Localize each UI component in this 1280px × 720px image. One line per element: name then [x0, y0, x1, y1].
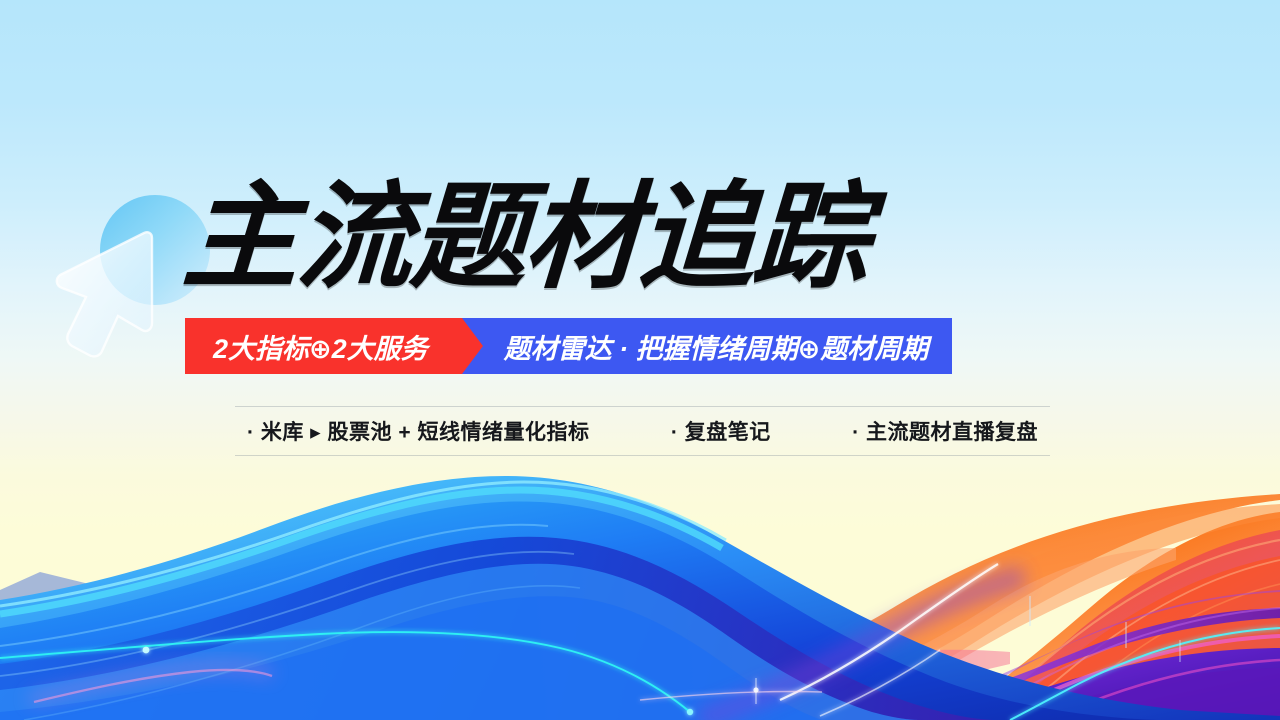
feature-list: · 米库 ▸ 股票池 + 短线情绪量化指标 · 复盘笔记 · 主流题材直播复盘 [235, 406, 1050, 456]
promo-banner: 主流题材追踪 2大指标⊕2大服务 题材雷达 · 把握情绪周期⊕题材周期 · 米库… [0, 0, 1280, 720]
highlight-ribbon: 2大指标⊕2大服务 题材雷达 · 把握情绪周期⊕题材周期 [185, 318, 952, 374]
ribbon-red-label: 2大指标⊕2大服务 [213, 327, 428, 366]
mouse-pointer-icon [57, 232, 152, 356]
feature-item-1: · 米库 ▸ 股票池 + 短线情绪量化指标 [247, 416, 589, 446]
ribbon-red-segment: 2大指标⊕2大服务 [185, 318, 462, 374]
page-title: 主流题材追踪 [180, 172, 1107, 302]
ribbon-blue-label: 题材雷达 · 把握情绪周期⊕题材周期 [504, 327, 929, 366]
ribbon-blue-segment: 题材雷达 · 把握情绪周期⊕题材周期 [462, 318, 953, 374]
feature-item-2: · 复盘笔记 [671, 416, 771, 446]
feature-item-3: · 主流题材直播复盘 [852, 416, 1038, 446]
